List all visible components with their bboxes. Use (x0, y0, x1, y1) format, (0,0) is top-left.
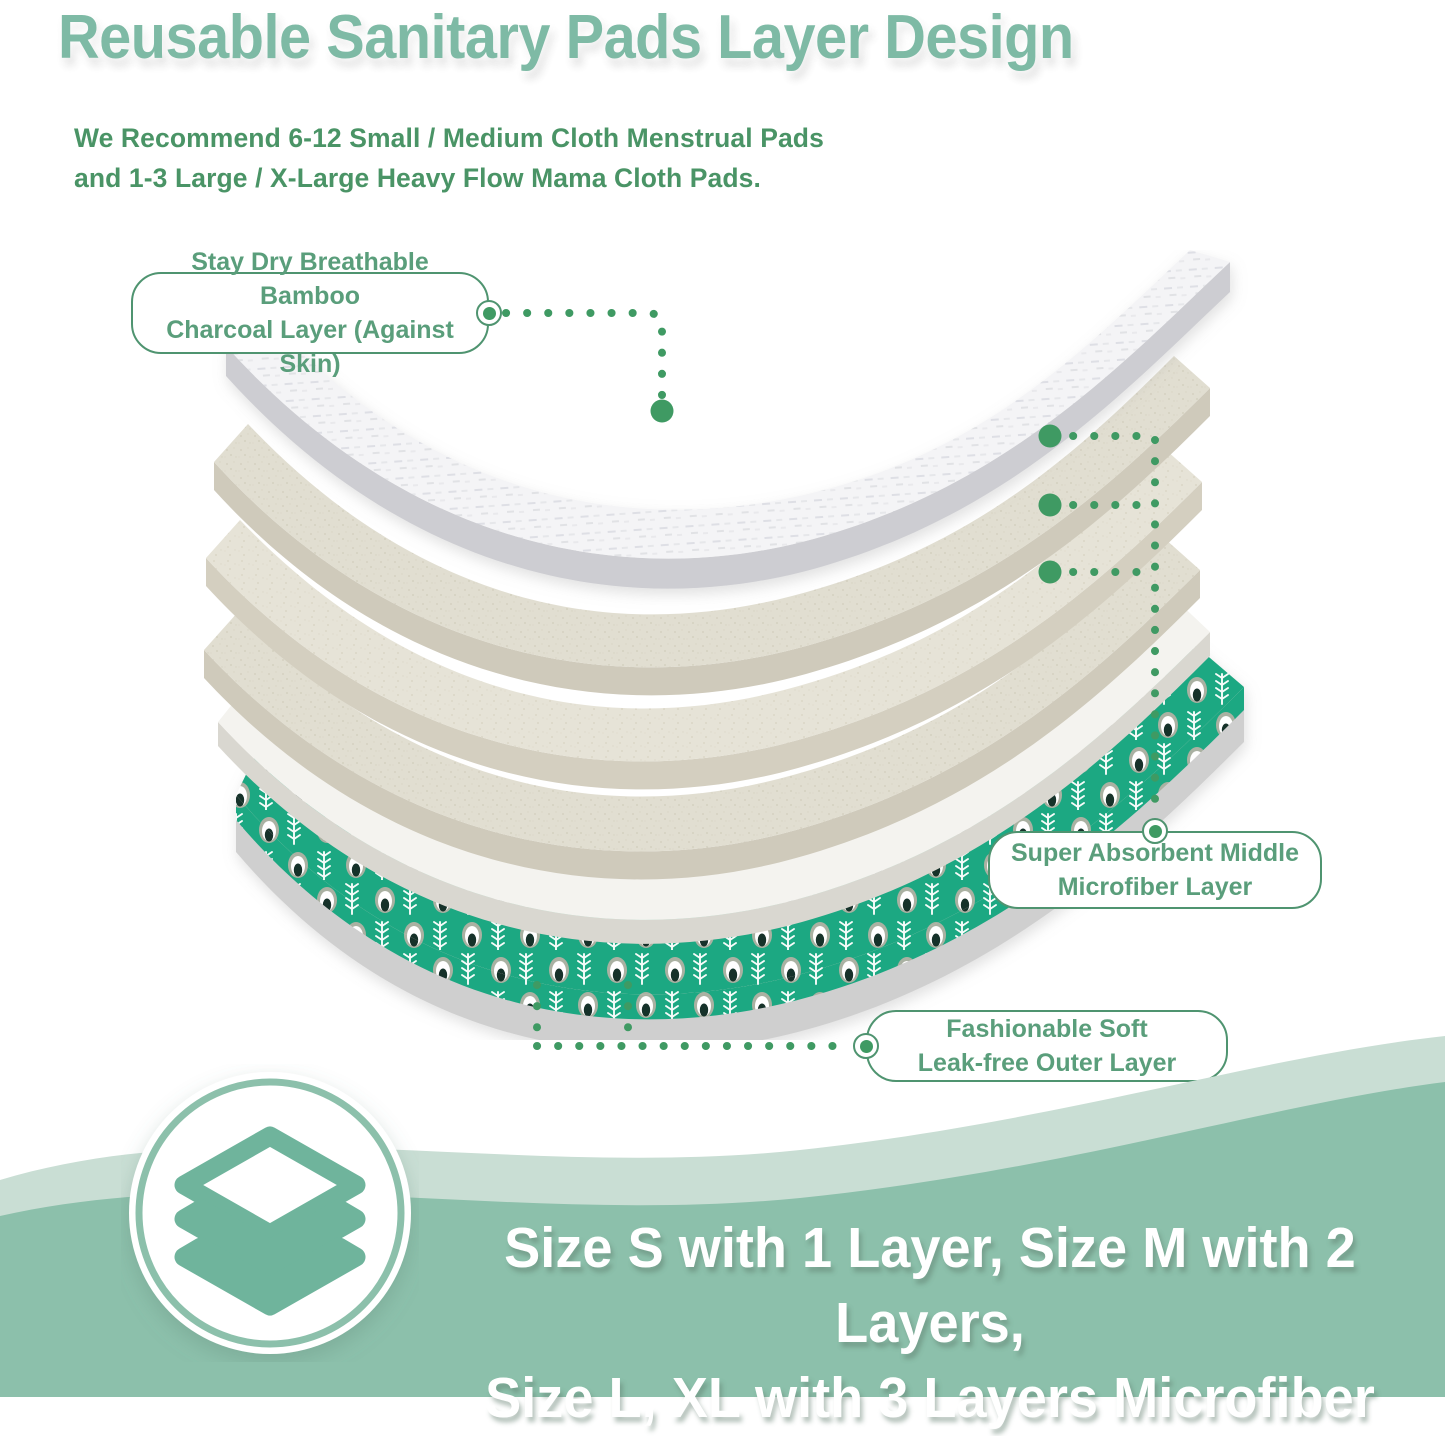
callout-anchor-dot-middle (1142, 818, 1168, 844)
banner-size-text: Size S with 1 Layer, Size M with 2 Layer… (455, 1211, 1405, 1436)
page-title: Reusable Sanitary Pads Layer Design (58, 2, 1258, 74)
callout-bamboo-charcoal-layer: Stay Dry Breathable Bamboo Charcoal Laye… (131, 272, 489, 354)
layers-logo-badge (121, 1064, 419, 1362)
page-subtitle: We Recommend 6-12 Small / Medium Cloth M… (74, 118, 1014, 198)
callout-anchor-dot-top (476, 300, 502, 326)
